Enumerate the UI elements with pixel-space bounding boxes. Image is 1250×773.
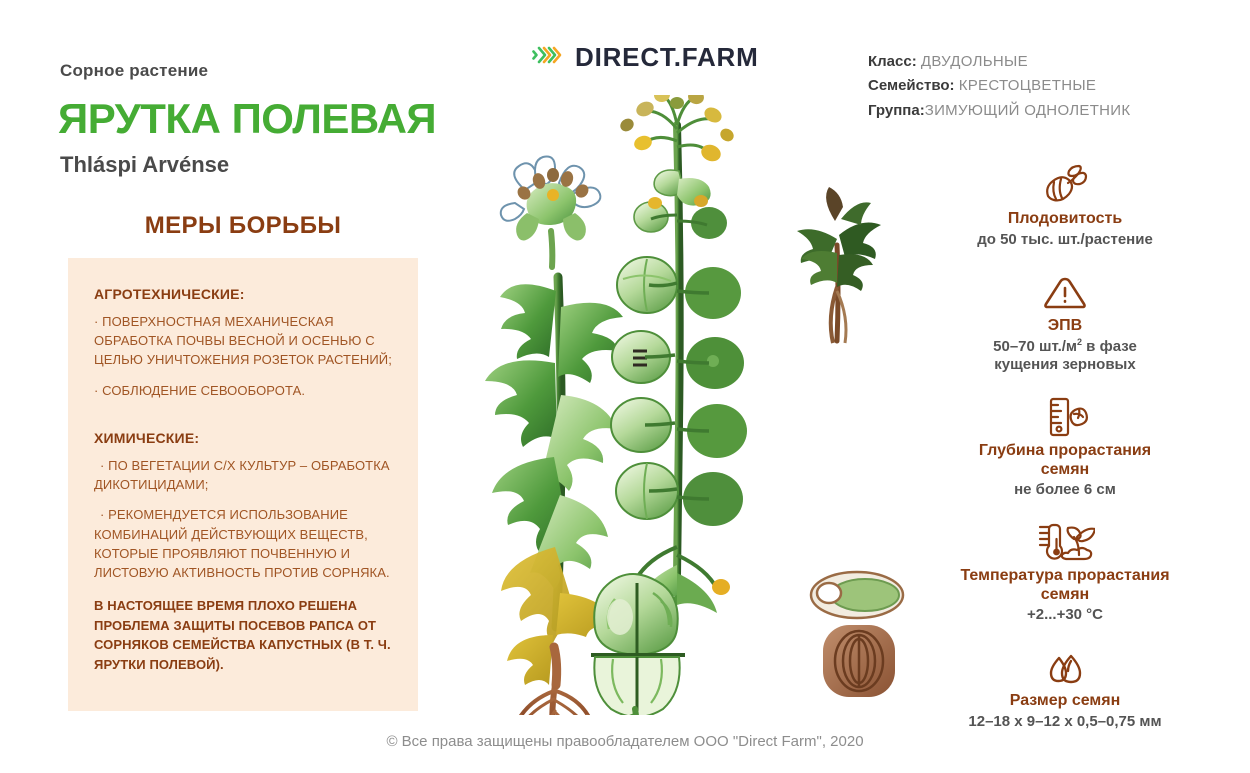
stat-value-epv-pre: 50–70 шт./м bbox=[993, 338, 1077, 355]
ruler-seeds-icon bbox=[905, 392, 1225, 438]
stat-title-line1: Глубина прорастания bbox=[979, 442, 1151, 459]
stat-title-line1: Температура прорастания bbox=[960, 567, 1169, 584]
stat-title-epv: ЭПВ bbox=[905, 317, 1225, 336]
stat-germination-depth: Глубина прорастания семян не более 6 см bbox=[905, 392, 1225, 499]
measures-heading: МЕРЫ БОРЬБЫ bbox=[68, 212, 418, 240]
agro-measure-item: · ПОВЕРХНОСТНАЯ МЕХАНИЧЕСКАЯ ОБРАБОТКА П… bbox=[94, 312, 392, 370]
infographic-poster: Сорное растение ЯРУТКА ПОЛЕВАЯ Thláspi A… bbox=[0, 0, 1250, 773]
stat-value-germination-temperature: +2...+30 °C bbox=[905, 606, 1225, 624]
stat-title-line2: семян bbox=[1041, 461, 1089, 478]
seedling-part bbox=[797, 187, 881, 343]
stat-value-germination-depth: не более 6 см bbox=[905, 481, 1225, 499]
stat-title-germination-depth: Глубина прорастания семян bbox=[905, 442, 1225, 479]
stats-column: Плодовитость до 50 тыс. шт./растение ЭПВ… bbox=[905, 160, 1225, 749]
logo-wordmark: DIRECT.FARM bbox=[575, 42, 759, 73]
sprouting-seed-icon bbox=[905, 160, 1225, 206]
chem-measure-item: · РЕКОМЕНДУЕТСЯ ИСПОЛЬЗОВАНИЕ КОМБИНАЦИЙ… bbox=[94, 505, 392, 582]
flower-detail-part bbox=[501, 156, 601, 267]
latin-name: Thláspi Arvénse bbox=[60, 152, 229, 178]
stat-title-germination-temperature: Температура прорастания семян bbox=[905, 567, 1225, 604]
measures-note: В НАСТОЯЩЕЕ ВРЕМЯ ПЛОХО РЕШЕНА ПРОБЛЕМА … bbox=[94, 596, 392, 674]
stat-value-seed-size: 12–18 x 9–12 x 0,5–0,75 мм bbox=[905, 713, 1225, 731]
seed-detail-part bbox=[811, 572, 903, 697]
classification-row-class: Класс: ДВУДОЛЬНЫЕ bbox=[868, 50, 1130, 74]
brand-logo[interactable]: DIRECT.FARM bbox=[531, 42, 759, 73]
classification-value-class: ДВУДОЛЬНЫЕ bbox=[921, 53, 1028, 70]
stat-value-epv-line2: кущения зерновых bbox=[994, 356, 1135, 373]
classification-value-family: КРЕСТОЦВЕТНЫЕ bbox=[959, 77, 1097, 94]
thermometer-sprout-icon bbox=[905, 517, 1225, 563]
stat-value-epv-post: в фазе bbox=[1082, 338, 1137, 355]
stat-epv: ЭПВ 50–70 шт./м2 в фазе кущения зерновых bbox=[905, 267, 1225, 375]
chem-measure-item: · ПО ВЕГЕТАЦИИ С/Х КУЛЬТУР – ОБРАБОТКА Д… bbox=[94, 456, 392, 494]
chem-measures-title: ХИМИЧЕСКИЕ: bbox=[94, 430, 392, 446]
seed-pod-cross-section-part bbox=[591, 574, 685, 715]
stat-germination-temperature: Температура прорастания семян +2...+30 °… bbox=[905, 517, 1225, 624]
classification-key-class: Класс: bbox=[868, 53, 917, 70]
stat-fertility: Плодовитость до 50 тыс. шт./растение bbox=[905, 160, 1225, 249]
stat-seed-size: Размер семян 12–18 x 9–12 x 0,5–0,75 мм bbox=[905, 642, 1225, 731]
measures-box: АГРОТЕХНИЧЕСКИЕ: · ПОВЕРХНОСТНАЯ МЕХАНИЧ… bbox=[68, 258, 418, 711]
stat-title-line2: семян bbox=[1041, 586, 1089, 603]
thlaspi-arvense-illustration bbox=[455, 95, 915, 715]
agro-measures-title: АГРОТЕХНИЧЕСКИЕ: bbox=[94, 286, 392, 302]
classification-value-group: ЗИМУЮЩИЙ ОДНОЛЕТНИК bbox=[925, 102, 1131, 119]
leafy-stem-with-roots-part bbox=[485, 277, 623, 715]
stat-title-fertility: Плодовитость bbox=[905, 210, 1225, 229]
warning-triangle-icon bbox=[905, 267, 1225, 313]
flowering-stem-with-pods-part bbox=[611, 95, 747, 629]
direct-farm-chevrons-icon bbox=[531, 43, 563, 72]
stat-value-epv: 50–70 шт./м2 в фазе кущения зерновых bbox=[905, 337, 1225, 374]
stat-value-fertility: до 50 тыс. шт./растение bbox=[905, 231, 1225, 249]
kicker-label: Сорное растение bbox=[60, 61, 208, 81]
copyright-footer: © Все права защищены правообладателем ОО… bbox=[0, 733, 1250, 750]
two-seeds-icon bbox=[905, 642, 1225, 688]
agro-measure-item: · СОБЛЮДЕНИЕ СЕВООБОРОТА. bbox=[94, 381, 392, 400]
stat-title-seed-size: Размер семян bbox=[905, 692, 1225, 711]
classification-key-family: Семейство: bbox=[868, 77, 955, 94]
page-title: ЯРУТКА ПОЛЕВАЯ bbox=[58, 98, 436, 140]
